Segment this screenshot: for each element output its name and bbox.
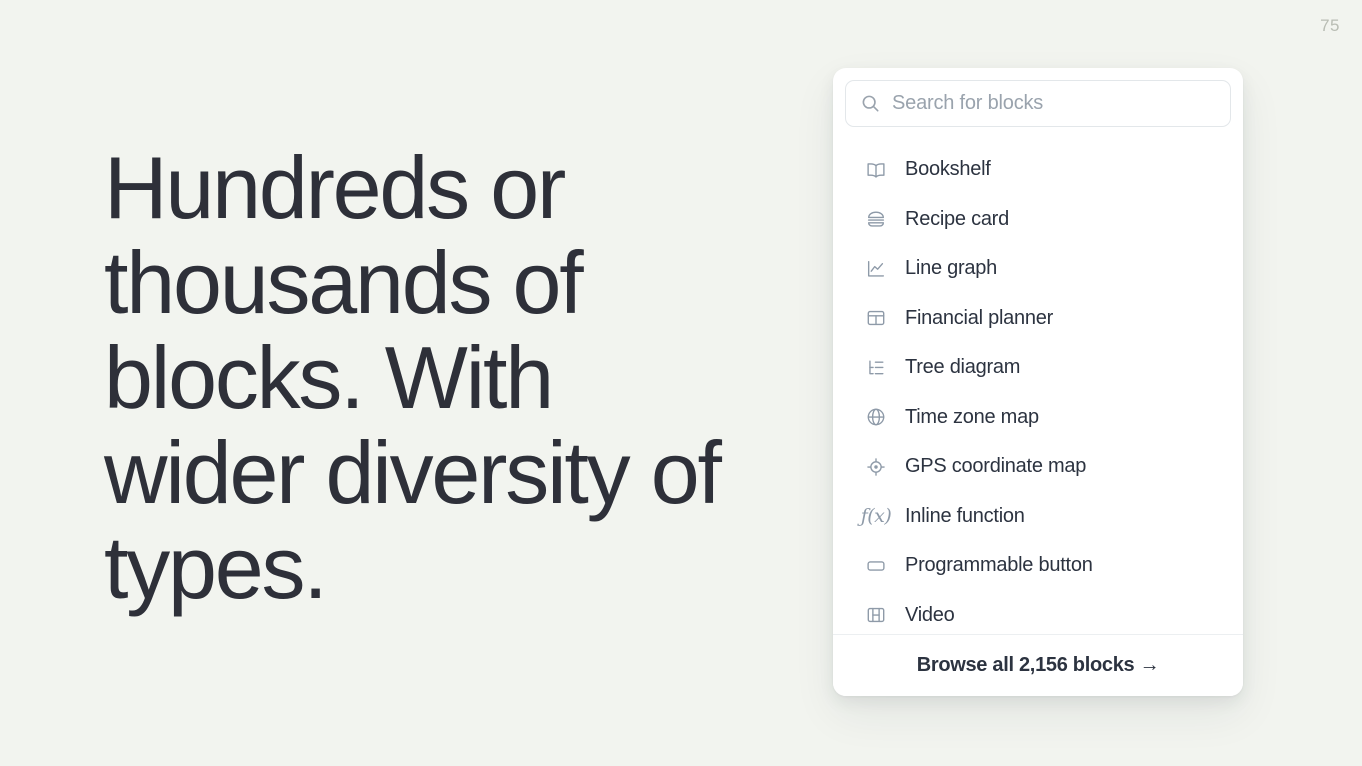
list-item-inline-function[interactable]: ƒ(x) Inline function: [833, 492, 1243, 542]
block-list[interactable]: Bookshelf Recipe card Line graph: [833, 127, 1243, 634]
search-placeholder: Search for blocks: [892, 92, 1043, 115]
list-item-tree-diagram[interactable]: Tree diagram: [833, 343, 1243, 393]
function-fx-icon: ƒ(x): [864, 504, 888, 528]
block-picker-panel: Search for blocks Bookshelf: [833, 68, 1243, 696]
recipe-stack-icon: [864, 207, 888, 231]
search-input[interactable]: Search for blocks: [845, 80, 1231, 127]
gps-crosshair-icon: [864, 455, 888, 479]
list-item-bookshelf[interactable]: Bookshelf: [833, 145, 1243, 195]
tree-list-icon: [864, 356, 888, 380]
open-book-icon: [864, 158, 888, 182]
search-container: Search for blocks: [833, 68, 1243, 127]
browse-all-blocks-button[interactable]: Browse all 2,156 blocks →: [833, 634, 1243, 696]
list-item-label: Programmable button: [905, 554, 1093, 577]
film-strip-icon: [864, 603, 888, 627]
list-item-label: Video: [905, 604, 955, 627]
list-item-label: Tree diagram: [905, 356, 1020, 379]
list-item-gps-coordinate-map[interactable]: GPS coordinate map: [833, 442, 1243, 492]
list-item-label: Bookshelf: [905, 158, 991, 181]
page-number: 75: [1320, 16, 1340, 36]
rounded-rect-icon: [864, 554, 888, 578]
line-chart-icon: [864, 257, 888, 281]
list-item-line-graph[interactable]: Line graph: [833, 244, 1243, 294]
list-item-label: GPS coordinate map: [905, 455, 1086, 478]
list-item-label: Time zone map: [905, 406, 1039, 429]
list-item-label: Financial planner: [905, 307, 1053, 330]
search-icon: [861, 94, 880, 113]
list-item-label: Recipe card: [905, 208, 1009, 231]
list-item-programmable-button[interactable]: Programmable button: [833, 541, 1243, 591]
list-item-video[interactable]: Video: [833, 591, 1243, 635]
globe-icon: [864, 405, 888, 429]
list-item-label: Line graph: [905, 257, 997, 280]
list-item-label: Inline function: [905, 505, 1025, 528]
browse-all-blocks-label: Browse all 2,156 blocks →: [917, 654, 1160, 677]
list-item-recipe-card[interactable]: Recipe card: [833, 195, 1243, 245]
list-item-financial-planner[interactable]: Financial planner: [833, 294, 1243, 344]
list-item-time-zone-map[interactable]: Time zone map: [833, 393, 1243, 443]
page-title: Hundreds or thousands of blocks. With wi…: [104, 140, 764, 615]
table-grid-icon: [864, 306, 888, 330]
